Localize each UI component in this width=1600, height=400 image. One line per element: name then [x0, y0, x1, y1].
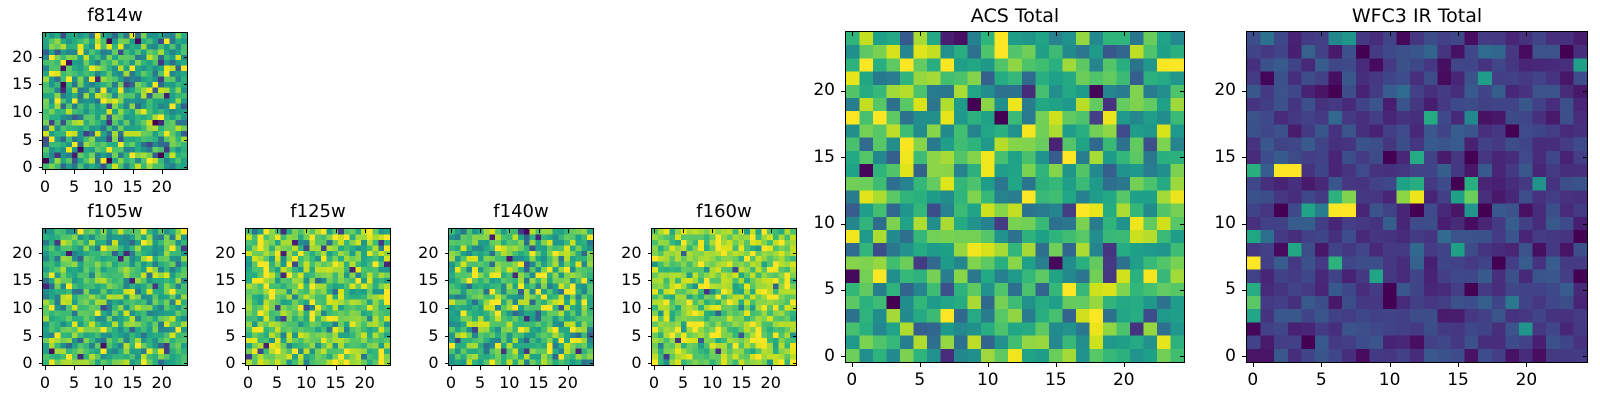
x-tick-acs-total-2: [988, 363, 989, 367]
y-ticklabel-wfc3-ir-total-2: 10: [1176, 213, 1236, 234]
panel-title-f140w: f140w: [448, 200, 594, 224]
heatmap-f105w[interactable]: [42, 228, 188, 366]
x-tick-acs-total-3: [1056, 363, 1057, 367]
x-tick-f140w-1: [480, 366, 481, 370]
x-tick-f160w-4: [771, 366, 772, 370]
x-tick-acs-total-1: [920, 363, 921, 367]
heatmap-image-acs-total: [846, 32, 1184, 362]
x-tick-f105w-4: [162, 366, 163, 370]
x-tick-f140w-3: [539, 366, 540, 370]
panel-wfc3-ir-total: WFC3 IR Total0510152005101520: [0, 0, 1600, 400]
x-tick-f814w-0: [45, 170, 46, 174]
x-tick-f105w-0: [45, 366, 46, 370]
heatmap-image-f140w: [449, 229, 593, 365]
x-ticklabel-f140w-4: 20: [538, 373, 598, 393]
x-ticklabel-f814w-1: 5: [44, 177, 104, 197]
x-tick-f125w-2: [306, 366, 307, 370]
panel-title-wfc3-ir-total: WFC3 IR Total: [1246, 4, 1588, 29]
x-ticklabel-f814w-4: 20: [132, 177, 192, 197]
x-tick-f160w-1: [683, 366, 684, 370]
y-ticklabel-wfc3-ir-total-0: 0: [1176, 346, 1236, 367]
panel-title-f814w: f814w: [42, 4, 188, 28]
x-ticklabel-f160w-2: 10: [682, 373, 742, 393]
x-tick-f125w-1: [277, 366, 278, 370]
y-ticklabel-acs-total-3: 15: [775, 147, 835, 168]
y-ticklabel-f105w-0: 0: [0, 353, 33, 373]
x-ticklabel-f814w-0: 0: [15, 177, 75, 197]
x-ticklabel-acs-total-1: 5: [890, 370, 950, 391]
x-ticklabel-f814w-3: 15: [103, 177, 163, 197]
x-ticklabel-f160w-3: 15: [712, 373, 772, 393]
y-ticklabel-f814w-3: 15: [0, 74, 33, 94]
x-ticklabel-f125w-1: 5: [247, 373, 307, 393]
x-tick-f125w-0: [248, 366, 249, 370]
heatmap-image-wfc3-ir-total: [1247, 32, 1587, 362]
x-ticklabel-f105w-2: 10: [73, 373, 133, 393]
x-ticklabel-f140w-1: 5: [450, 373, 510, 393]
x-ticklabel-f125w-0: 0: [218, 373, 278, 393]
figure-canvas: f814w0510152005101520f105w05101520051015…: [0, 0, 1600, 400]
x-tick-f814w-1: [74, 170, 75, 174]
x-ticklabel-f140w-0: 0: [421, 373, 481, 393]
y-ticklabel-f105w-3: 15: [0, 270, 33, 290]
y-ticklabel-f814w-1: 5: [0, 130, 33, 150]
x-ticklabel-f160w-0: 0: [624, 373, 684, 393]
panel-title-f105w: f105w: [42, 200, 188, 224]
heatmap-image-f125w: [246, 229, 390, 365]
x-ticklabel-f105w-1: 5: [44, 373, 104, 393]
x-tick-f814w-4: [162, 170, 163, 174]
x-ticklabel-f125w-4: 20: [335, 373, 395, 393]
x-tick-f814w-2: [103, 170, 104, 174]
x-ticklabel-f105w-0: 0: [15, 373, 75, 393]
x-tick-wfc3-ir-total-4: [1526, 363, 1527, 367]
x-tick-wfc3-ir-total-3: [1458, 363, 1459, 367]
x-tick-f105w-2: [103, 366, 104, 370]
heatmap-f814w[interactable]: [42, 32, 188, 170]
x-tick-f140w-2: [509, 366, 510, 370]
x-ticklabel-f125w-2: 10: [276, 373, 336, 393]
x-ticklabel-acs-total-3: 15: [1026, 370, 1086, 391]
y-ticklabel-f105w-4: 20: [0, 243, 33, 263]
y-ticklabel-f814w-4: 20: [0, 47, 33, 67]
y-ticklabel-wfc3-ir-total-3: 15: [1176, 147, 1236, 168]
y-ticklabel-acs-total-4: 20: [775, 80, 835, 101]
panel-title-acs-total: ACS Total: [845, 4, 1185, 29]
heatmap-wfc3-ir-total[interactable]: [1246, 31, 1588, 363]
y-ticklabel-f814w-2: 10: [0, 102, 33, 122]
x-ticklabel-wfc3-ir-total-0: 0: [1223, 370, 1283, 391]
x-tick-f814w-3: [133, 170, 134, 174]
x-ticklabel-acs-total-4: 20: [1094, 370, 1154, 391]
x-tick-f125w-3: [336, 366, 337, 370]
x-tick-f160w-0: [654, 366, 655, 370]
x-ticklabel-f160w-1: 5: [653, 373, 713, 393]
x-ticklabel-wfc3-ir-total-1: 5: [1291, 370, 1351, 391]
y-ticklabel-wfc3-ir-total-1: 5: [1176, 279, 1236, 300]
heatmap-f160w[interactable]: [651, 228, 797, 366]
x-tick-f125w-4: [365, 366, 366, 370]
x-tick-f140w-0: [451, 366, 452, 370]
x-ticklabel-wfc3-ir-total-2: 10: [1360, 370, 1420, 391]
panel-title-f125w: f125w: [245, 200, 391, 224]
x-tick-acs-total-0: [852, 363, 853, 367]
x-ticklabel-wfc3-ir-total-4: 20: [1496, 370, 1556, 391]
x-ticklabel-f140w-3: 15: [509, 373, 569, 393]
x-ticklabel-f125w-3: 15: [306, 373, 366, 393]
x-tick-f140w-4: [568, 366, 569, 370]
x-tick-f105w-1: [74, 366, 75, 370]
x-tick-wfc3-ir-total-2: [1390, 363, 1391, 367]
x-ticklabel-wfc3-ir-total-3: 15: [1428, 370, 1488, 391]
panel-title-f160w: f160w: [651, 200, 797, 224]
x-ticklabel-f160w-4: 20: [741, 373, 801, 393]
heatmap-f140w[interactable]: [448, 228, 594, 366]
y-ticklabel-f814w-0: 0: [0, 157, 33, 177]
x-tick-wfc3-ir-total-1: [1321, 363, 1322, 367]
x-tick-f160w-3: [742, 366, 743, 370]
heatmap-image-f160w: [652, 229, 796, 365]
y-ticklabel-wfc3-ir-total-4: 20: [1176, 80, 1236, 101]
x-ticklabel-acs-total-2: 10: [958, 370, 1018, 391]
x-tick-wfc3-ir-total-0: [1253, 363, 1254, 367]
x-ticklabel-acs-total-0: 0: [822, 370, 882, 391]
y-ticklabel-f105w-1: 5: [0, 326, 33, 346]
heatmap-f125w[interactable]: [245, 228, 391, 366]
heatmap-image-f105w: [43, 229, 187, 365]
x-ticklabel-f105w-3: 15: [103, 373, 163, 393]
x-tick-acs-total-4: [1124, 363, 1125, 367]
x-ticklabel-f814w-2: 10: [73, 177, 133, 197]
x-ticklabel-f140w-2: 10: [479, 373, 539, 393]
heatmap-acs-total[interactable]: [845, 31, 1185, 363]
x-tick-f160w-2: [712, 366, 713, 370]
y-ticklabel-f105w-2: 10: [0, 298, 33, 318]
heatmap-image-f814w: [43, 33, 187, 169]
x-ticklabel-f105w-4: 20: [132, 373, 192, 393]
x-tick-f105w-3: [133, 366, 134, 370]
